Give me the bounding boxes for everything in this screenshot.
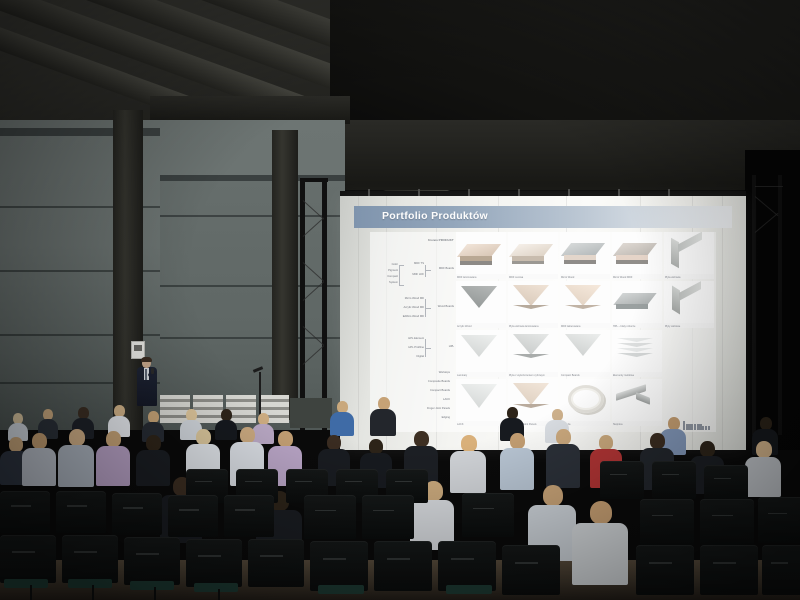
presenter-tie [145, 369, 147, 380]
product-thumb [508, 330, 558, 372]
chair [640, 499, 694, 545]
product-cell[interactable]: Laminaty [456, 330, 506, 377]
chair [758, 497, 800, 543]
audience-person [22, 433, 56, 485]
product-cell[interactable]: Płyta z wykończeniem cyfrowym [508, 330, 558, 377]
audience-person [572, 501, 628, 583]
tree-node-composite: Composite Boards [388, 381, 450, 384]
tree-node-worktops: Worktops [388, 372, 450, 375]
chair [62, 535, 118, 583]
chair-seat [130, 581, 174, 590]
chair [112, 493, 162, 535]
product-thumb [664, 281, 714, 323]
truss-top [300, 178, 328, 182]
product-cell[interactable]: HPL – blaty robocze [612, 281, 662, 328]
product-cell[interactable]: Elementy meblowe [612, 330, 662, 377]
product-thumb [456, 232, 506, 274]
audience-person [500, 433, 534, 489]
chair-seat [4, 579, 48, 588]
chair [124, 537, 180, 585]
audience-person [546, 429, 580, 487]
product-caption: Płyta z wykończeniem cyfrowym [509, 374, 545, 377]
presenter-hair [141, 357, 152, 362]
audience-person [745, 441, 781, 495]
tree-branch-hpl: HPL [431, 346, 454, 349]
audience-person [370, 397, 396, 435]
product-caption: MDF laminowana [457, 276, 476, 279]
product-thumb [560, 330, 610, 372]
chair [168, 495, 218, 537]
product-thumb [612, 281, 662, 323]
chair [0, 535, 56, 583]
tree-branch-mdf: MDF Boards [431, 268, 454, 271]
tree-node-digital: Digital [396, 356, 424, 359]
product-cell[interactable]: Płyta wiórowa laminowana [508, 281, 558, 328]
chair-seat [194, 583, 238, 592]
chair-seat [446, 585, 492, 594]
product-cell[interactable]: MDF surowa [508, 232, 558, 279]
audience-person [450, 435, 486, 491]
microphone-icon [151, 368, 154, 374]
chair-seat [68, 579, 112, 588]
structural-column-right [272, 130, 298, 420]
product-thumb [508, 232, 558, 274]
product-thumb [508, 281, 558, 323]
product-caption: Compact Boards [561, 374, 580, 377]
product-cell[interactable]: Compact Boards [560, 330, 610, 377]
tree-branch-wood: Wood Boards [431, 306, 454, 309]
product-thumb [560, 281, 610, 323]
tree-leaf-pigment: Pigment [372, 270, 398, 273]
tree-leaf-compact: Compact [372, 276, 398, 279]
tree-node-hpl-profiline: HPL Profiline [396, 347, 424, 350]
chair [438, 541, 496, 591]
product-caption: Laminaty [457, 374, 467, 377]
chair [636, 545, 694, 595]
chair [224, 495, 274, 537]
tree-root-label: Kronos PRODUKT [428, 238, 454, 242]
chair [704, 465, 748, 503]
product-caption: MDF lakierowana [561, 325, 580, 328]
product-cell[interactable]: Micro Wood [560, 232, 610, 279]
tree-node-hpl-element: HPL Element [396, 338, 424, 341]
product-caption: Płyty wiórowe [665, 325, 680, 328]
chair [762, 545, 800, 595]
product-caption: Płyta wiórowa [665, 276, 680, 279]
chair [462, 493, 514, 537]
slide-title: Portfolio Produktów [382, 210, 488, 222]
product-thumb [560, 232, 610, 274]
photo-scene: Portfolio Produktów Kronos PRODUKT Color… [0, 0, 800, 600]
product-cell[interactable]: Płyty wiórowe [664, 281, 714, 328]
truss-post-left [300, 180, 305, 430]
tree-leaf-system: System [372, 282, 398, 285]
tree-leaf-color: Color [372, 264, 398, 267]
chair [700, 545, 758, 595]
chair [700, 499, 754, 545]
audience [0, 395, 800, 600]
chair [0, 491, 50, 533]
chair [374, 541, 432, 591]
chair-seat [318, 585, 364, 594]
product-caption: Micro Wood MDF [613, 276, 632, 279]
product-thumb [456, 330, 506, 372]
audience-person [58, 429, 94, 485]
product-thumb [612, 330, 662, 372]
product-thumb [612, 232, 662, 274]
audience-person [330, 401, 354, 435]
audience-person [96, 431, 130, 485]
chair [600, 461, 644, 499]
chair [248, 539, 304, 587]
product-cell[interactable]: Acrylic Wood [456, 281, 506, 328]
product-cell[interactable]: MDF lakierowana [560, 281, 610, 328]
chair [502, 545, 560, 595]
overhead-beam [330, 120, 800, 190]
tree-node-edificio-wood: Edificio Wood MD [396, 316, 424, 319]
product-thumb [664, 232, 714, 274]
product-cell[interactable]: MDF laminowana [456, 232, 506, 279]
product-cell[interactable]: Micro Wood MDF [612, 232, 662, 279]
tree-node-compact: Compact Boards [388, 390, 450, 393]
product-thumb [456, 281, 506, 323]
chair [56, 491, 106, 533]
chair [186, 539, 242, 587]
product-caption: HPL – blaty robocze [613, 325, 635, 328]
tree-node-mdf-ts: MDF TS [404, 263, 424, 266]
product-caption: Płyta wiórowa laminowana [509, 325, 538, 328]
product-cell[interactable]: Płyta wiórowa [664, 232, 714, 279]
chair [652, 461, 696, 499]
tree-node-acrylic-wood: Acrylic Wood MD [396, 307, 424, 310]
product-caption: Elementy meblowe [613, 374, 634, 377]
tree-node-mdf-ldf: MDF LDF [404, 274, 424, 277]
product-caption: Micro Wood [561, 276, 574, 279]
product-caption: Acrylic Wood [457, 325, 472, 328]
chair [304, 495, 356, 539]
chair [362, 495, 414, 539]
chair [310, 541, 368, 591]
product-caption: MDF surowa [509, 276, 523, 279]
tree-node-micro-wood: Micro Wood MD [396, 298, 424, 301]
